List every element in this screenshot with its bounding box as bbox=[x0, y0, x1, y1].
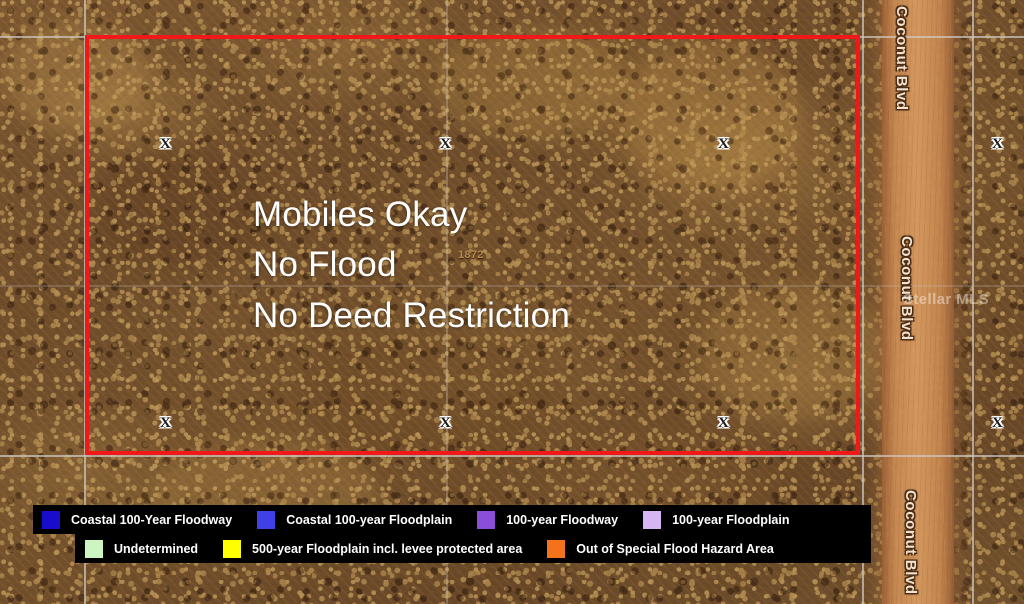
legend-label: 100-year Floodway bbox=[506, 513, 618, 527]
legend-swatch bbox=[547, 540, 565, 558]
legend-item-100-year-floodway: 100-year Floodway bbox=[477, 511, 618, 529]
flood-zone-marker-x: X bbox=[440, 137, 451, 152]
legend-swatch bbox=[477, 511, 495, 529]
legend-item-out-of-special-flood-hazard-area: Out of Special Flood Hazard Area bbox=[547, 540, 774, 558]
street-label-coconut-blvd: Coconut Blvd bbox=[898, 236, 915, 341]
legend-item-undetermined: Undetermined bbox=[85, 540, 198, 558]
flood-legend-row-1: Coastal 100-Year Floodway Coastal 100-ye… bbox=[33, 505, 871, 534]
legend-item-coastal-100-year-floodway: Coastal 100-Year Floodway bbox=[42, 511, 232, 529]
legend-label: Coastal 100-Year Floodway bbox=[71, 513, 232, 527]
legend-label: Out of Special Flood Hazard Area bbox=[576, 542, 774, 556]
flood-zone-marker-x: X bbox=[718, 137, 729, 152]
legend-swatch bbox=[643, 511, 661, 529]
legend-item-100-year-floodplain: 100-year Floodplain bbox=[643, 511, 789, 529]
street-label-coconut-blvd: Coconut Blvd bbox=[893, 6, 910, 111]
flood-legend-row-2: Undetermined 500-year Floodplain incl. l… bbox=[75, 534, 871, 563]
legend-swatch bbox=[85, 540, 103, 558]
map-screenshot: X X X X X X X X 1872 Coconut Blvd Coconu… bbox=[0, 0, 1024, 604]
legend-swatch bbox=[223, 540, 241, 558]
legend-label: Coastal 100-year Floodplain bbox=[286, 513, 452, 527]
legend-item-500-year-floodplain: 500-year Floodplain incl. levee protecte… bbox=[223, 540, 522, 558]
parcel-grid-line bbox=[0, 455, 1024, 457]
flood-legend: Coastal 100-Year Floodway Coastal 100-ye… bbox=[0, 500, 1024, 570]
legend-item-coastal-100-year-floodplain: Coastal 100-year Floodplain bbox=[257, 511, 452, 529]
flood-zone-marker-x: X bbox=[992, 137, 1003, 152]
legend-label: 500-year Floodplain incl. levee protecte… bbox=[252, 542, 522, 556]
stellar-mls-watermark: Stellar MLS bbox=[903, 291, 989, 308]
flood-zone-marker-x: X bbox=[440, 416, 451, 431]
flood-zone-marker-x: X bbox=[160, 416, 171, 431]
legend-label: 100-year Floodplain bbox=[672, 513, 789, 527]
annotation-line-1: Mobiles Okay bbox=[253, 190, 570, 240]
legend-swatch bbox=[257, 511, 275, 529]
annotation-line-2: No Flood bbox=[253, 240, 570, 290]
listing-annotation: Mobiles Okay No Flood No Deed Restrictio… bbox=[253, 190, 570, 341]
annotation-line-3: No Deed Restriction bbox=[253, 291, 570, 341]
flood-zone-marker-x: X bbox=[160, 137, 171, 152]
legend-label: Undetermined bbox=[114, 542, 198, 556]
legend-swatch bbox=[42, 511, 60, 529]
flood-zone-marker-x: X bbox=[992, 416, 1003, 431]
flood-zone-marker-x: X bbox=[718, 416, 729, 431]
